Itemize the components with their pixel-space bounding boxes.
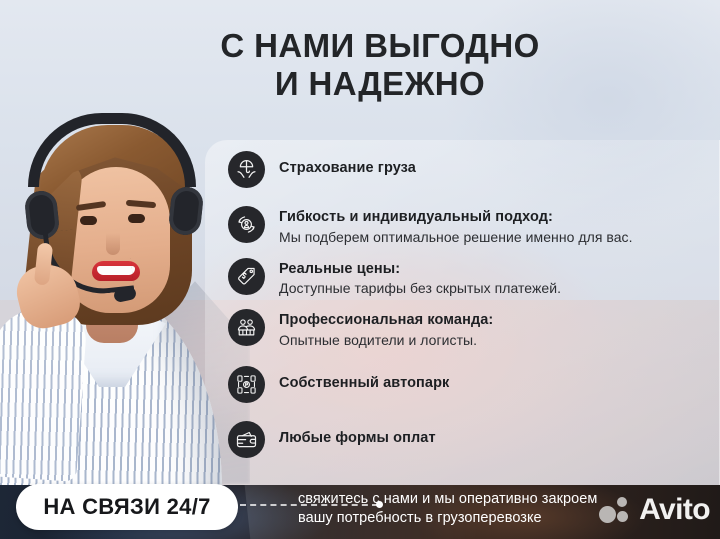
feature-title: Страхование груза	[279, 160, 416, 176]
avito-dot-small-bottom	[617, 511, 628, 522]
feature-title: Любые формы оплат	[279, 430, 436, 446]
avito-dots-icon	[599, 495, 637, 525]
agent-eye-right	[128, 214, 145, 223]
insurance-umbrella-hands-icon	[228, 151, 265, 188]
list-item: Гибкость и индивидуальный подход: Мы под…	[228, 205, 720, 246]
wallet-payment-icon	[228, 421, 265, 458]
feature-title: Собственный автопарк	[279, 375, 449, 391]
feature-text: Гибкость и индивидуальный подход: Мы под…	[279, 205, 633, 246]
list-item: Профессиональная команда: Опытные водите…	[228, 308, 720, 349]
avito-dot-small-top	[617, 497, 627, 507]
feature-subtitle: Мы подберем оптимальное решение именно д…	[279, 228, 633, 246]
status-badge-label: НА СВЯЗИ 24/7	[43, 494, 210, 520]
advertisement-banner: С НАМИ ВЫГОДНО И НАДЕЖНО Страхование гру…	[0, 0, 720, 539]
feature-title: Реальные цены:	[279, 260, 561, 279]
agent-arm	[0, 306, 88, 482]
agent-eye-left	[80, 216, 97, 225]
avito-wordmark: Avito	[639, 495, 710, 525]
flexible-approach-person-cycle-icon	[228, 206, 265, 243]
feature-title: Гибкость и индивидуальный подход:	[279, 208, 633, 227]
parking-fleet-icon	[228, 366, 265, 403]
avito-dot-large	[599, 506, 616, 523]
status-badge[interactable]: НА СВЯЗИ 24/7	[16, 484, 238, 530]
price-tag-money-icon	[228, 258, 265, 295]
contact-line-1: свяжитесь с нами и мы оперативно закроем	[298, 490, 588, 510]
list-item: Страхование груза	[228, 150, 720, 188]
feature-subtitle: Опытные водители и логисты.	[279, 331, 493, 349]
feature-text: Собственный автопарк	[279, 365, 449, 393]
feature-text: Реальные цены: Доступные тарифы без скры…	[279, 257, 561, 298]
contact-line-2: вашу потребность в грузоперевозке	[298, 509, 588, 529]
feature-subtitle: Доступные тарифы без скрытых платежей.	[279, 279, 561, 297]
feature-text: Профессиональная команда: Опытные водите…	[279, 308, 493, 349]
team-people-icon	[228, 309, 265, 346]
list-item: Собственный автопарк	[228, 365, 720, 403]
feature-text: Любые формы оплат	[279, 420, 436, 448]
feature-title: Профессиональная команда:	[279, 311, 493, 330]
feature-list: Страхование груза Гибкость и индивидуаль…	[228, 150, 720, 466]
headset-band-icon	[28, 113, 196, 187]
list-item: Любые формы оплат	[228, 420, 720, 458]
call-center-agent-photo	[0, 19, 232, 539]
avito-logo[interactable]: Avito	[599, 495, 710, 525]
headset-earcup-right	[168, 185, 205, 236]
contact-message: свяжитесь с нами и мы оперативно закроем…	[298, 490, 588, 529]
list-item: Реальные цены: Доступные тарифы без скры…	[228, 257, 720, 298]
feature-text: Страхование груза	[279, 150, 416, 178]
